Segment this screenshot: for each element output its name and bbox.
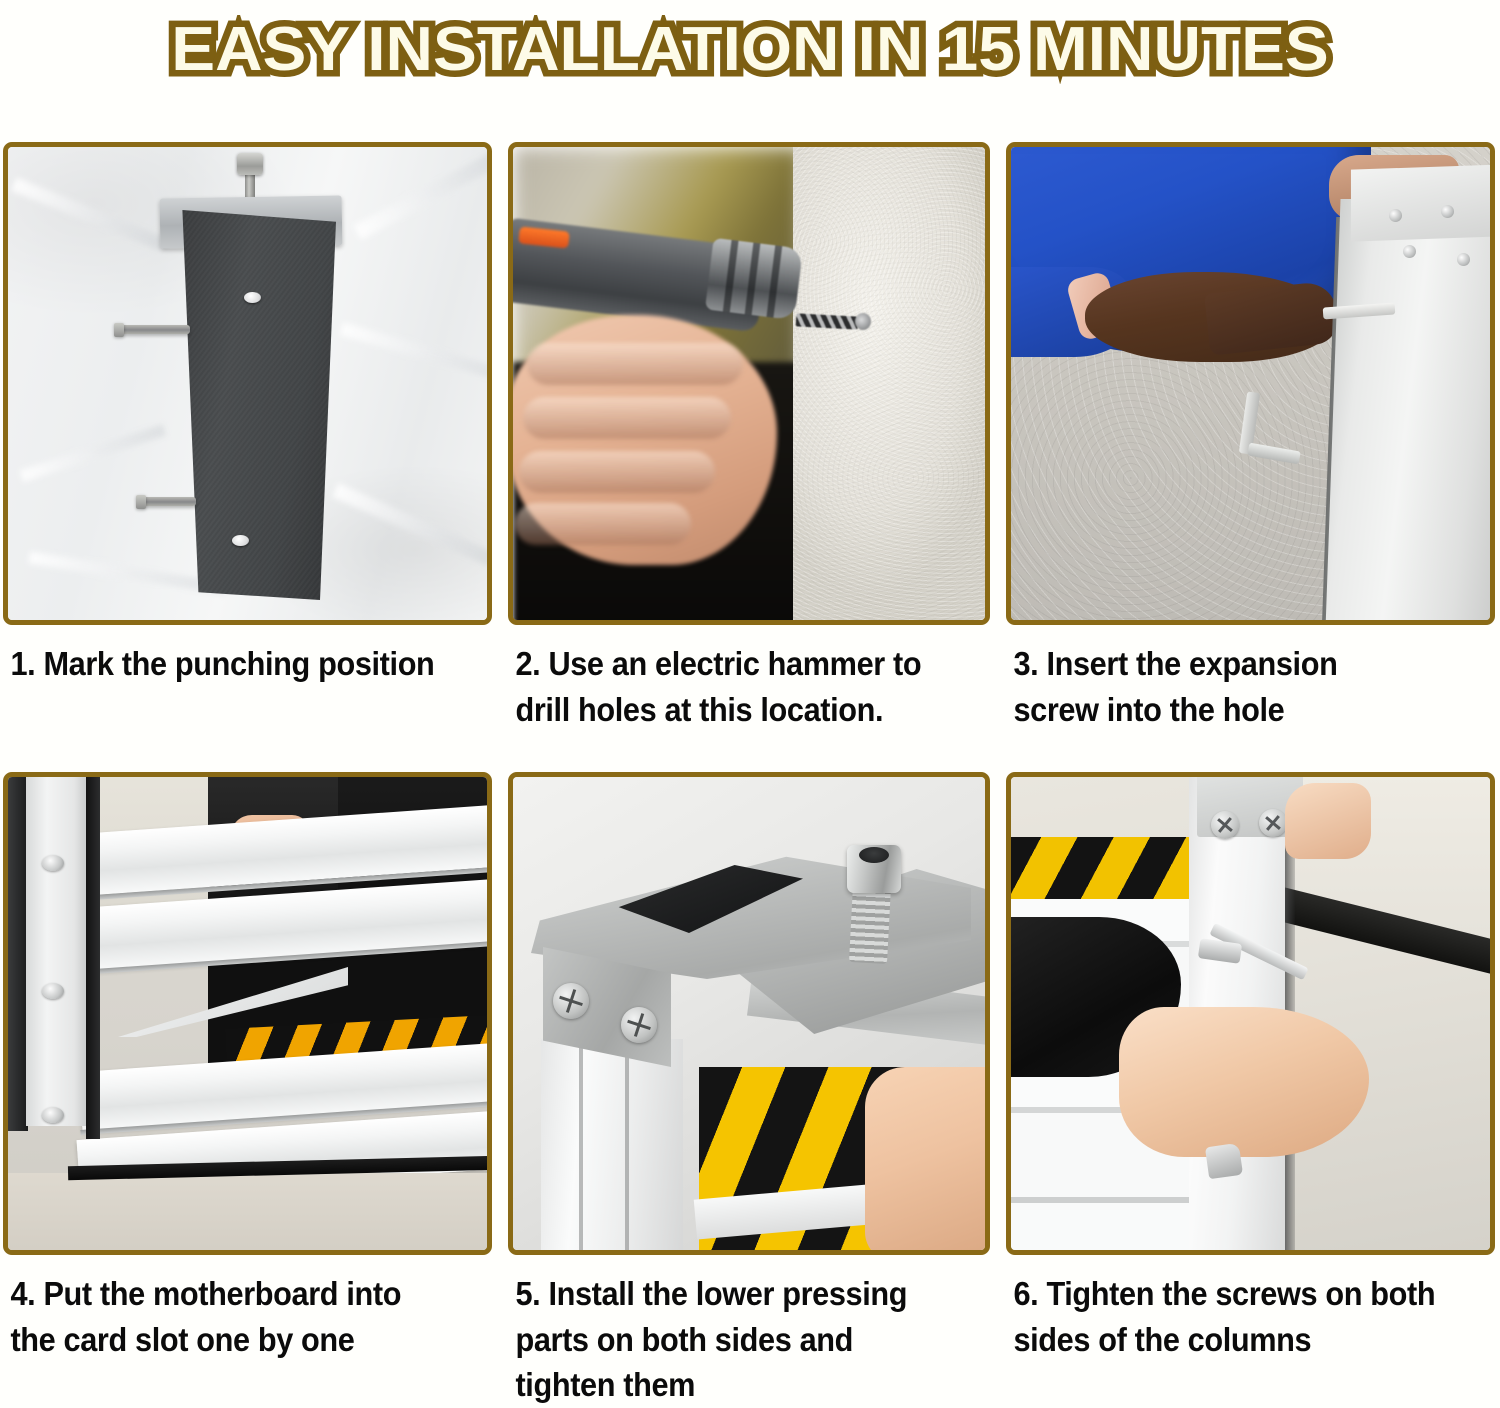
column-bolt bbox=[42, 983, 64, 999]
chuck-ring bbox=[766, 245, 782, 317]
chuck-ring bbox=[723, 240, 739, 312]
step-1-caption: 1. Mark the punching position bbox=[3, 625, 458, 772]
column-bolt bbox=[42, 1107, 64, 1123]
column-bolt bbox=[42, 855, 64, 871]
alignment-pin-upper bbox=[118, 325, 190, 334]
column-card-slot bbox=[86, 777, 100, 1139]
step-1-photo bbox=[8, 147, 487, 620]
step-2-image-cell bbox=[508, 142, 990, 625]
column-groove bbox=[625, 1039, 629, 1250]
step-6-photo bbox=[1011, 777, 1490, 1250]
step-2-photo bbox=[513, 147, 985, 620]
step-2-caption: 2. Use an electric hammer to drill holes… bbox=[508, 625, 956, 772]
step-3-caption: 3. Insert the expansion screw into the h… bbox=[1006, 625, 1461, 772]
installer-hand bbox=[1119, 1007, 1369, 1157]
column-screw bbox=[1457, 253, 1470, 266]
mounting-post bbox=[176, 210, 336, 600]
step-5-image-cell bbox=[508, 772, 990, 1255]
floor bbox=[8, 1173, 487, 1250]
step-5-photo bbox=[513, 777, 985, 1250]
column-screw-right bbox=[1259, 809, 1287, 837]
step-2-photo-frame bbox=[508, 142, 990, 625]
step-4-photo bbox=[8, 777, 487, 1250]
step-6-image-cell bbox=[1006, 772, 1495, 1255]
marking-hole-lower bbox=[232, 535, 249, 546]
pin-cap-lower bbox=[136, 495, 146, 509]
pressing-bolt-shaft bbox=[849, 884, 891, 964]
step-3-photo-frame bbox=[1006, 142, 1495, 625]
drill-chuck bbox=[705, 238, 803, 320]
step-5-photo-frame bbox=[508, 772, 990, 1255]
installation-guide-page: EASY INSTALLATION IN 15 MINUTES bbox=[0, 0, 1500, 1403]
column-screw bbox=[1403, 245, 1416, 258]
chuck-ring bbox=[745, 243, 761, 315]
alignment-pin-lower bbox=[140, 497, 196, 506]
step-1-image-cell bbox=[3, 142, 492, 625]
step-6-caption: 6. Tighten the screws on both sides of t… bbox=[1006, 1255, 1461, 1400]
page-header: EASY INSTALLATION IN 15 MINUTES bbox=[0, 0, 1500, 100]
installer-second-hand bbox=[1285, 783, 1371, 859]
pin-cap-upper bbox=[114, 323, 124, 337]
column-dark-edge bbox=[8, 777, 28, 1131]
lower-column-screw bbox=[1205, 1143, 1243, 1179]
step-4-caption: 4. Put the motherboard into the card slo… bbox=[3, 1255, 458, 1400]
step-6-photo-frame bbox=[1006, 772, 1495, 1255]
finger bbox=[519, 451, 715, 493]
bracket-screw-right bbox=[621, 1007, 657, 1043]
aluminum-column bbox=[541, 1039, 683, 1250]
finger bbox=[527, 343, 743, 385]
step-4-photo-frame bbox=[3, 772, 492, 1255]
pressing-bolt-socket bbox=[859, 847, 889, 863]
bracket-screw-left bbox=[553, 983, 589, 1019]
textured-wall bbox=[793, 147, 985, 620]
finger bbox=[515, 503, 691, 545]
column-screw bbox=[1441, 205, 1454, 218]
step-1-photo-frame bbox=[3, 142, 492, 625]
aluminum-column bbox=[26, 777, 86, 1126]
column-top-plate bbox=[1351, 164, 1490, 241]
step-3-image-cell bbox=[1006, 142, 1495, 625]
column-screw-left bbox=[1211, 811, 1239, 839]
post-texture bbox=[176, 210, 336, 600]
step-3-photo bbox=[1011, 147, 1490, 620]
finger bbox=[523, 397, 731, 439]
step-5-caption: 5. Install the lower pressing parts on b… bbox=[508, 1255, 956, 1400]
column-groove bbox=[579, 1039, 583, 1250]
page-title: EASY INSTALLATION IN 15 MINUTES bbox=[171, 19, 1329, 81]
hazard-stripe-panel bbox=[1011, 837, 1205, 899]
steps-grid: 1. Mark the punching position 2. Use an … bbox=[3, 142, 1495, 1400]
top-bolt-head bbox=[237, 153, 263, 175]
column-screw bbox=[1389, 209, 1402, 222]
drill-bit-tip bbox=[855, 313, 871, 330]
step-4-image-cell bbox=[3, 772, 492, 1255]
installer-hand bbox=[865, 1067, 985, 1250]
marking-hole-upper bbox=[244, 292, 261, 303]
